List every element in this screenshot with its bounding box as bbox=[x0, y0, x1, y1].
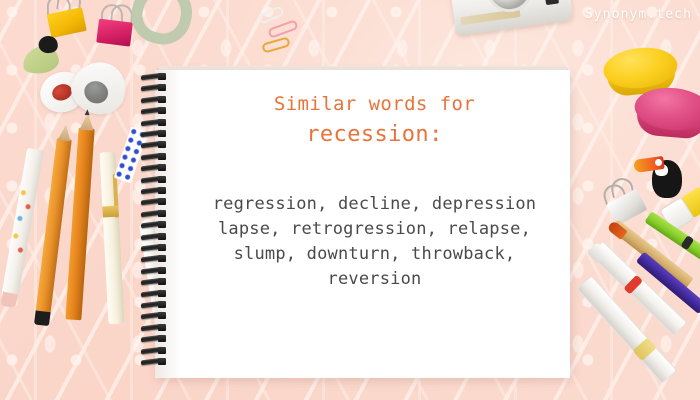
spiral-ring bbox=[141, 97, 173, 102]
notepad: Similar words for recession: regression,… bbox=[155, 70, 570, 378]
page-heading: Similar words for bbox=[185, 92, 564, 116]
spiral-ring bbox=[141, 154, 173, 159]
spiral-ring bbox=[141, 211, 173, 216]
spiral-ring bbox=[141, 279, 173, 284]
macaron-pink-icon bbox=[632, 85, 700, 147]
spiral-ring bbox=[141, 245, 173, 250]
spiral-ring bbox=[141, 222, 173, 227]
site-watermark: Synonym.tech bbox=[585, 7, 692, 22]
synonym-line: lapse, retrogression, relapse, bbox=[185, 217, 564, 242]
spiral-ring bbox=[141, 131, 173, 136]
spiral-ring bbox=[141, 268, 173, 273]
spiral-ring bbox=[141, 165, 173, 170]
spiral-ring bbox=[141, 234, 173, 239]
notepad-paper: Similar words for recession: regression,… bbox=[155, 70, 570, 378]
spiral-ring bbox=[141, 85, 173, 90]
spiral-ring bbox=[141, 142, 173, 147]
synonym-line: reversion bbox=[185, 267, 564, 292]
spiral-ring bbox=[141, 108, 173, 113]
spiral-ring bbox=[141, 177, 173, 182]
synonym-line: slump, downturn, throwback, bbox=[185, 242, 564, 267]
spiral-ring bbox=[141, 199, 173, 204]
spiral-ring bbox=[141, 256, 173, 261]
notepad-content: Similar words for recession: regression,… bbox=[185, 92, 564, 292]
spiral-ring bbox=[141, 120, 173, 125]
notepad-spiral-binding bbox=[141, 74, 175, 374]
spiral-ring bbox=[141, 302, 173, 307]
spiral-ring bbox=[141, 291, 173, 296]
spiral-ring bbox=[141, 359, 173, 364]
query-word: recession: bbox=[185, 120, 564, 150]
spiral-ring bbox=[141, 325, 173, 330]
synonym-list: regression, decline, depression lapse, r… bbox=[185, 192, 564, 292]
spiral-ring bbox=[141, 188, 173, 193]
synonym-line: regression, decline, depression bbox=[185, 192, 564, 217]
spiral-ring bbox=[141, 313, 173, 318]
spiral-ring bbox=[141, 336, 173, 341]
spiral-ring bbox=[141, 74, 173, 79]
bird-charm-icon bbox=[18, 33, 67, 77]
spiral-ring bbox=[141, 348, 173, 353]
